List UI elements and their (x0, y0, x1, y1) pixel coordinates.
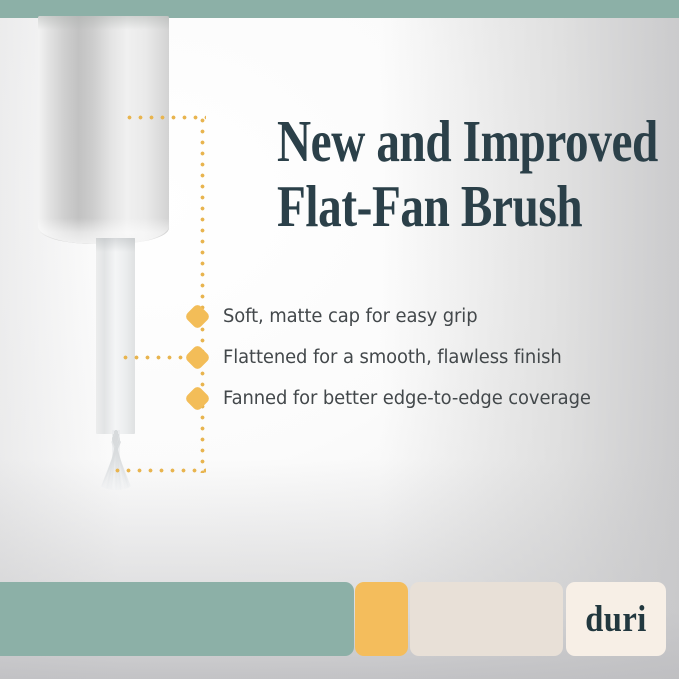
diamond-bullet-icon (184, 303, 211, 330)
headline-line-2: Flat-Fan Brush (277, 175, 669, 238)
matte-cap-icon (38, 16, 169, 244)
swatch-amber (355, 582, 408, 656)
feature-label: Fanned for better edge-to-edge coverage (223, 388, 591, 409)
leader-line-bottom-horizontal (112, 468, 206, 473)
product-illustration (0, 0, 260, 520)
brush-stem (96, 238, 135, 434)
swatch-sage (0, 582, 354, 656)
page-title: New and Improved Flat-Fan Brush (277, 110, 669, 237)
brush-stem-shadow (96, 238, 135, 252)
feature-label: Soft, matte cap for easy grip (223, 306, 478, 327)
list-item: Flattened for a smooth, flawless finish (188, 337, 658, 378)
list-item: Soft, matte cap for easy grip (188, 296, 658, 337)
headline-line-1: New and Improved (277, 110, 669, 173)
leader-line-top-horizontal (124, 115, 206, 120)
feature-list: Soft, matte cap for easy grip Flattened … (188, 296, 658, 419)
diamond-bullet-icon (184, 385, 211, 412)
brand-logo: duri (572, 582, 660, 656)
fan-bristles-icon (64, 430, 167, 490)
cap-top-shading (38, 16, 169, 30)
swatch-beige (410, 582, 563, 656)
list-item: Fanned for better edge-to-edge coverage (188, 378, 658, 419)
leader-line-vertical (200, 115, 205, 473)
infographic-canvas: New and Improved Flat-Fan Brush Soft, ma… (0, 0, 679, 679)
diamond-bullet-icon (184, 344, 211, 371)
feature-label: Flattened for a smooth, flawless finish (223, 347, 562, 368)
